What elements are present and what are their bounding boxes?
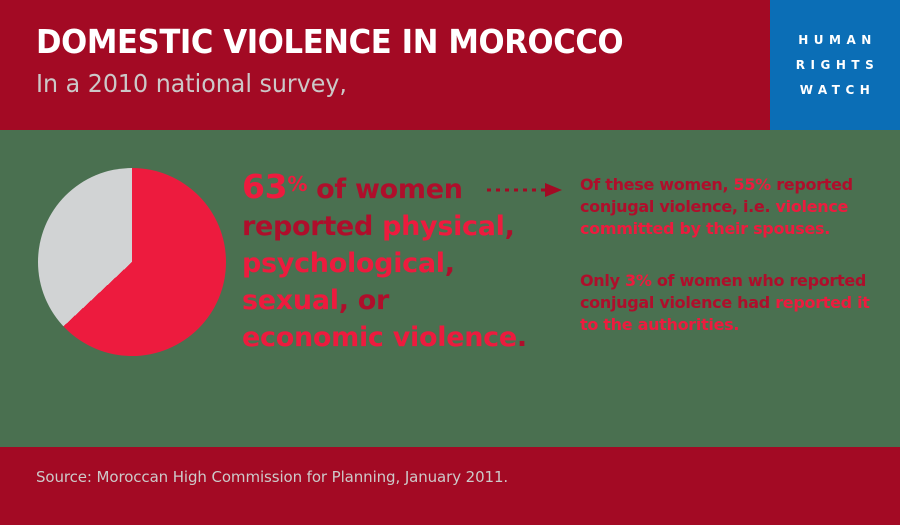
para2-period: . [733, 315, 739, 334]
hrw-logo-line-rights: RIGHTS [770, 53, 900, 78]
para2-seg1: Only [580, 271, 625, 290]
right-column: Of these women, 55% reported conjugal vi… [580, 174, 870, 336]
main-statement-comma-2: , [445, 248, 455, 279]
pie-chart [38, 168, 226, 356]
footer-banner: Source: Moroccan High Commission for Pla… [0, 447, 900, 525]
hrw-logo-line-watch: WATCH [770, 78, 900, 103]
main-statement-or: , or [339, 285, 389, 316]
page-subtitle: In a 2010 national survey, [36, 68, 701, 100]
main-statement-comma-1: , [505, 211, 515, 242]
main-statement-period: . [517, 322, 527, 353]
stat-paragraph-reported-authorities: Only 3% of women who reported conjugal v… [580, 270, 870, 336]
main-statement-physical: physical [382, 211, 505, 242]
dotted-arrow-right-icon [487, 180, 562, 200]
hrw-logo-lines: HUMAN RIGHTS WATCH [770, 28, 900, 103]
para2-stat-3: 3% [625, 271, 652, 290]
hrw-logo-line-human: HUMAN [770, 28, 900, 53]
page-title: DOMESTIC VIOLENCE IN MOROCCO [36, 22, 687, 62]
main-statement-economic-violence: economic violence [242, 322, 517, 353]
main-statistic-value: 63 [242, 167, 287, 206]
header-banner: DOMESTIC VIOLENCE IN MOROCCO In a 2010 n… [0, 0, 900, 130]
infographic-root: DOMESTIC VIOLENCE IN MOROCCO In a 2010 n… [0, 0, 900, 525]
main-statement-psychological: psychological [242, 248, 445, 279]
main-statement-sexual: sexual [242, 285, 339, 316]
hrw-logo-block: HUMAN RIGHTS WATCH [770, 0, 900, 130]
main-statement-lead: of women [307, 174, 463, 205]
main-statement-reported: reported [242, 211, 382, 242]
para1-period: . [824, 219, 830, 238]
source-citation: Source: Moroccan High Commission for Pla… [36, 468, 508, 486]
para1-seg1: Of these women, [580, 175, 734, 194]
para1-stat-55: 55% [734, 175, 771, 194]
stat-paragraph-conjugal-violence: Of these women, 55% reported conjugal vi… [580, 174, 870, 240]
pie-chart-slices [38, 168, 226, 356]
main-statistic-percent-sign: % [287, 172, 307, 196]
header-text-group: DOMESTIC VIOLENCE IN MOROCCO In a 2010 n… [36, 22, 736, 100]
